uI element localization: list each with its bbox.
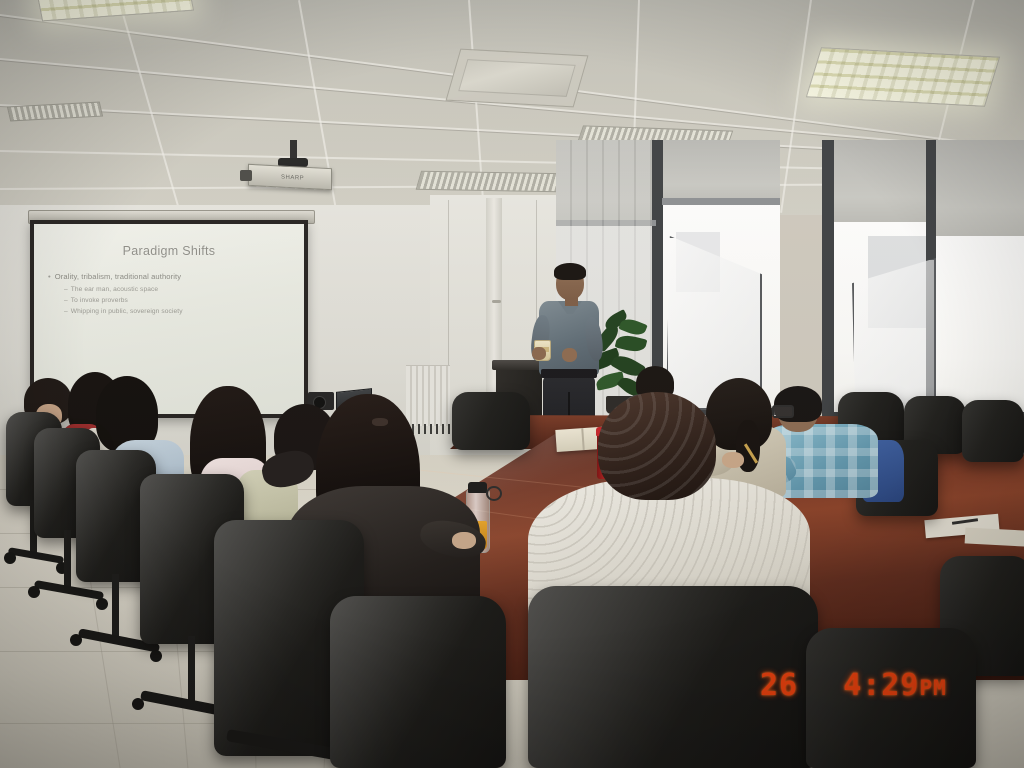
radiator-feet (406, 424, 450, 434)
timestamp-ampm: PM (919, 676, 946, 700)
office-chair (452, 392, 530, 450)
projector-brand-label: SHARP (281, 175, 304, 182)
ceiling-light-panel (36, 0, 194, 21)
slide-bullet-level2: –The ear man, acoustic space (64, 286, 290, 293)
plant-pot (606, 396, 636, 414)
bullet-marker: – (64, 286, 68, 293)
slide-bullet-level2: –To invoke proverbs (64, 297, 290, 304)
timestamp-time: 4:29 (843, 668, 919, 703)
water-bottle-cap (468, 482, 487, 493)
bullet-text: To invoke proverbs (71, 297, 128, 304)
roller-blind[interactable] (832, 140, 932, 224)
papers-on-table (965, 527, 1024, 546)
water-bottle-contents (467, 521, 487, 550)
laptop (336, 388, 372, 420)
potted-plant (590, 312, 650, 412)
projection-screen: Paradigm Shifts •Orality, tribalism, tra… (30, 220, 308, 418)
wall-radiator (406, 365, 450, 426)
slide-content: Paradigm Shifts •Orality, tribalism, tra… (34, 224, 304, 414)
projector-lens (240, 170, 252, 181)
slide-bullet-level1: •Orality, tribalism, traditional authori… (48, 272, 290, 281)
wall-door-handle (492, 300, 501, 303)
office-chair (962, 400, 1024, 462)
thermos-cap (596, 427, 618, 436)
roller-blind[interactable] (662, 140, 780, 206)
bullet-marker: • (48, 272, 51, 281)
bullet-text: Orality, tribalism, traditional authorit… (55, 272, 181, 281)
slide-bullet-level2: –Whipping in public, sovereign society (64, 308, 290, 315)
camera-timestamp: 26 4:29PM (760, 668, 947, 703)
conference-room-photo: SHARP Paradigm Shifts •Orality, tribalis… (0, 0, 1024, 768)
ceiling-projector: SHARP (248, 164, 332, 190)
red-thermos (597, 433, 617, 479)
ceiling-vent-grille (416, 171, 565, 193)
projection-screen-surface: Paradigm Shifts •Orality, tribalism, tra… (34, 224, 304, 414)
camera-lens (313, 396, 326, 409)
wall-seam (536, 200, 537, 370)
window-frame-head (662, 198, 780, 205)
hvac-diffuser (446, 49, 589, 108)
timestamp-day: 26 (760, 668, 798, 703)
blue-jacket-on-chair (862, 440, 904, 502)
lectern-top (492, 360, 548, 370)
ceiling-light-panel (806, 47, 1000, 107)
slide-title: Paradigm Shifts (48, 244, 290, 258)
bullet-text: The ear man, acoustic space (71, 286, 158, 293)
water-bottle-handle (486, 486, 502, 501)
bullet-marker: – (64, 297, 68, 304)
roller-blind[interactable] (934, 140, 1024, 238)
bullet-text: Whipping in public, sovereign society (71, 308, 183, 315)
bullet-marker: – (64, 308, 68, 315)
